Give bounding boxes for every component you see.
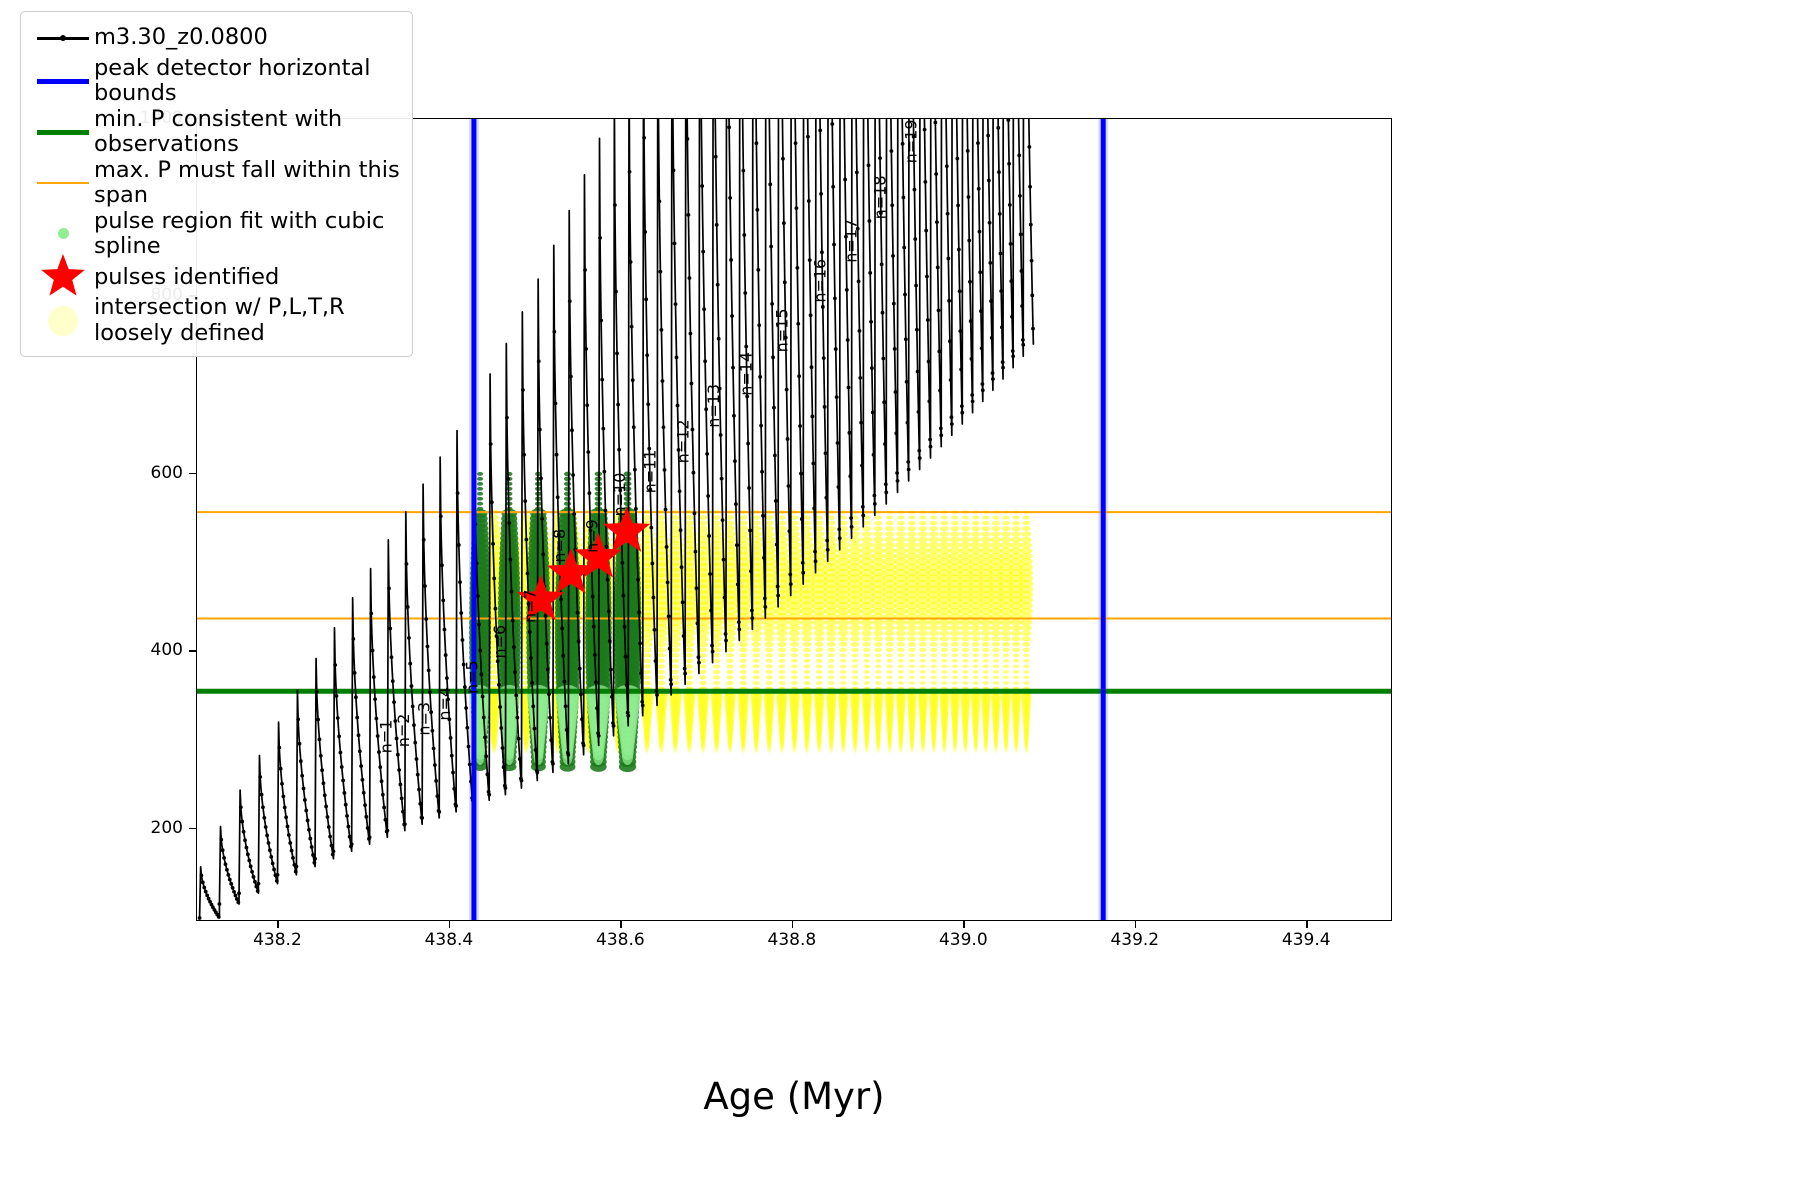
curve-marker — [642, 136, 646, 140]
intersection-blob — [983, 665, 989, 668]
intersection-blob — [1012, 648, 1020, 652]
intersection-blob — [1010, 619, 1022, 625]
curve-marker — [620, 561, 624, 565]
curve-marker — [661, 379, 665, 383]
intersection-blob — [962, 659, 968, 662]
curve-marker — [968, 280, 972, 284]
curve-marker — [957, 248, 961, 252]
curve-marker — [979, 309, 983, 313]
intersection-blob — [1002, 648, 1010, 652]
curve-marker — [385, 829, 389, 833]
curve-marker — [708, 572, 712, 576]
intersection-blob — [657, 647, 666, 652]
curve-marker — [205, 893, 209, 897]
curve-marker — [528, 630, 532, 634]
curve-marker — [773, 454, 777, 458]
curve-marker — [798, 424, 802, 428]
curve-marker — [948, 339, 952, 343]
intersection-blob — [1001, 636, 1010, 641]
intersection-blob — [950, 531, 960, 536]
intersection-blob-tail — [754, 739, 758, 753]
intersection-blob — [1013, 676, 1019, 679]
intersection-blob — [886, 521, 894, 525]
curve-marker — [882, 400, 886, 404]
pulse-label-n-10: n=10 — [610, 473, 629, 517]
curve-marker — [915, 328, 919, 332]
curve-marker — [956, 203, 960, 207]
intersection-blob — [791, 670, 798, 674]
curve-marker — [638, 641, 642, 645]
intersection-blob — [874, 642, 883, 647]
intersection-blob — [790, 642, 799, 647]
curve-marker — [231, 886, 235, 890]
curve-marker — [834, 347, 838, 351]
curve-marker — [572, 512, 576, 516]
intersection-blob — [1023, 659, 1029, 662]
intersection-blob — [671, 647, 680, 652]
intersection-blob — [971, 636, 980, 641]
curve-marker — [545, 642, 549, 646]
curve-marker — [937, 309, 941, 313]
curve-marker — [861, 505, 865, 509]
intersection-blob — [765, 653, 773, 657]
curve-marker — [468, 762, 472, 766]
curve-marker — [1000, 325, 1004, 329]
curve-marker — [950, 415, 954, 419]
intersection-blob — [490, 675, 499, 680]
intersection-blob — [930, 648, 938, 652]
legend[interactable]: m3.30_z0.0800peak detector horizontal bo… — [20, 11, 413, 357]
curve-marker — [242, 830, 246, 834]
curve-marker — [750, 608, 754, 612]
curve-marker — [565, 728, 569, 732]
intersection-blob — [993, 659, 999, 662]
intersection-blob — [930, 521, 938, 525]
intersection-blob — [814, 636, 824, 642]
curve-marker — [673, 242, 677, 246]
curve-marker — [681, 600, 685, 604]
pulse-label-n-5: n=5 — [462, 660, 481, 694]
curve-marker — [602, 470, 606, 474]
intersection-blob — [1012, 526, 1021, 531]
curve-marker — [298, 742, 302, 746]
curve-marker — [937, 349, 941, 353]
intersection-blob — [886, 665, 892, 668]
curve-marker — [485, 772, 489, 776]
curve-marker — [678, 489, 682, 493]
pulse-label-n-19: n=19 — [901, 119, 920, 163]
intersection-blob — [803, 653, 810, 657]
intersection-blob — [886, 681, 892, 684]
y-tick-label: 400 — [151, 640, 183, 660]
intersection-blob — [1022, 642, 1030, 647]
curve-marker — [795, 266, 799, 270]
curve-marker — [416, 773, 420, 777]
intersection-blob — [726, 675, 733, 679]
curve-marker — [848, 431, 852, 435]
intersection-blob — [982, 648, 990, 652]
intersection-blob — [950, 537, 961, 543]
intersection-blob — [918, 526, 927, 531]
intersection-blob — [973, 659, 979, 662]
legend-entry-1[interactable]: m3.30_z0.0800 — [32, 20, 401, 56]
intersection-blob — [931, 681, 937, 684]
intersection-blob — [950, 636, 959, 641]
pulse-region-spline-point — [506, 472, 512, 476]
curve-marker — [925, 275, 929, 279]
curve-marker — [769, 245, 773, 249]
intersection-blob — [906, 542, 917, 548]
intersection-blob — [1021, 625, 1032, 631]
curve-marker — [464, 706, 468, 710]
curve-marker — [530, 681, 534, 685]
intersection-blob — [861, 619, 873, 626]
intersection-blob — [788, 625, 800, 632]
intersection-blob-tail — [780, 739, 784, 753]
x-tick-label: 439.2 — [1110, 930, 1159, 950]
intersection-blob — [839, 515, 847, 519]
intersection-blob — [983, 676, 989, 679]
pulse-label-n-7: n=7 — [521, 589, 540, 623]
curve-marker — [1031, 327, 1035, 331]
legend-entry-5[interactable]: pulse region fit with cubic spline — [32, 209, 401, 260]
curve-marker — [763, 597, 767, 601]
intersection-blob — [726, 515, 734, 520]
legend-entry-2[interactable]: peak detector horizontal bounds — [32, 56, 401, 107]
curve-marker — [842, 119, 846, 120]
curve-marker — [639, 671, 643, 675]
curve-marker — [835, 395, 839, 399]
intersection-blob — [850, 630, 861, 636]
intersection-blob — [791, 676, 798, 680]
intersection-blob — [930, 516, 937, 520]
curve-marker — [335, 694, 339, 698]
x-tick-mark — [792, 921, 793, 928]
intersection-blob — [1013, 654, 1020, 658]
curve-marker — [1021, 343, 1025, 347]
intersection-blob — [909, 665, 915, 668]
star-sample — [37, 254, 89, 300]
curve-marker — [219, 838, 223, 842]
curve-marker — [702, 307, 706, 311]
curve-marker — [819, 192, 823, 196]
intersection-blob — [970, 542, 981, 548]
curve-marker — [672, 168, 676, 172]
curve-marker — [939, 426, 943, 430]
curve-marker — [730, 314, 734, 318]
intersection-blob — [766, 659, 773, 663]
curve-marker — [554, 402, 558, 406]
intersection-blob — [671, 670, 679, 674]
curve-marker — [407, 636, 411, 640]
intersection-blob — [973, 670, 979, 673]
intersection-blob — [991, 636, 1000, 641]
intersection-blob — [874, 521, 882, 526]
intersection-blob — [949, 542, 960, 548]
legend-entry-label: min. P consistent with observations — [94, 107, 401, 158]
curve-marker — [496, 659, 500, 663]
curve-marker — [732, 414, 736, 418]
intersection-blob — [874, 526, 883, 531]
intersection-blob-tail — [741, 739, 745, 753]
x-tick-mark — [963, 921, 964, 928]
intersection-blob — [992, 648, 1000, 652]
curve-marker — [896, 479, 900, 483]
curve-marker — [892, 302, 896, 306]
curve-marker — [277, 746, 281, 750]
intersection-blob — [753, 664, 760, 668]
curve-marker — [623, 625, 627, 629]
intersection-blob-tail — [994, 739, 998, 753]
intersection-blob — [778, 659, 785, 663]
legend-entry-6[interactable]: pulses identified — [32, 259, 401, 295]
pulse-region-spline-tail — [476, 747, 485, 765]
intersection-blob — [816, 676, 823, 680]
intersection-blob — [929, 531, 939, 536]
curve-marker — [744, 345, 748, 349]
legend-entry-label: pulse region fit with cubic spline — [94, 209, 401, 260]
curve-marker — [631, 378, 635, 382]
curve-marker — [812, 507, 816, 511]
curve-marker — [456, 491, 460, 495]
intersection-blob — [982, 642, 990, 647]
intersection-blob — [657, 653, 665, 658]
intersection-blob-tail — [1004, 739, 1008, 753]
curve-marker — [722, 558, 726, 562]
legend-entry-7[interactable]: intersection w/ P,L,T,Rloosely defined — [32, 295, 401, 346]
intersection-blob — [908, 516, 915, 520]
intersection-blob — [1002, 526, 1011, 531]
intersection-blob — [952, 670, 958, 673]
curve-marker — [967, 239, 971, 243]
curve-marker — [501, 746, 505, 750]
curve-marker — [734, 502, 738, 506]
curve-marker — [737, 627, 741, 631]
curve-marker — [794, 141, 798, 145]
curve-marker — [976, 141, 980, 145]
intersection-blob-tail — [492, 739, 497, 753]
intersection-blob — [897, 648, 905, 652]
curve-marker — [989, 299, 993, 303]
intersection-blob — [928, 537, 939, 543]
curve-marker — [443, 628, 447, 632]
intersection-blob — [962, 516, 969, 520]
curve-marker — [373, 697, 377, 701]
intersection-blob — [970, 625, 981, 631]
curve-marker — [980, 346, 984, 350]
intersection-blob — [906, 625, 917, 631]
intersection-blob — [671, 664, 679, 668]
intersection-blob — [886, 654, 893, 658]
curve-marker — [245, 846, 249, 850]
intersection-blob — [643, 664, 651, 668]
curve-marker — [696, 621, 700, 625]
intersection-blob — [928, 542, 939, 548]
line-sample — [37, 79, 89, 84]
curve-marker — [836, 485, 840, 489]
curve-marker — [939, 433, 943, 437]
pulse-region-spline-tail — [622, 747, 633, 765]
intersection-blob — [864, 659, 870, 663]
curve-marker — [663, 468, 667, 472]
curve-marker — [674, 302, 678, 306]
curve-marker — [749, 569, 753, 573]
curve-marker — [202, 886, 206, 890]
curve-marker — [256, 889, 260, 893]
intersection-blob — [814, 630, 825, 636]
intersection-blob-tail — [687, 739, 691, 753]
intersection-blob — [981, 631, 991, 637]
curve-marker — [861, 513, 865, 517]
curve-marker — [830, 122, 834, 126]
curve-marker — [1006, 119, 1010, 122]
curve-marker — [521, 388, 525, 392]
curve-marker — [978, 270, 982, 274]
intersection-blob-tail — [659, 739, 663, 753]
curve-marker — [315, 690, 319, 694]
curve-marker — [634, 507, 638, 511]
intersection-blob — [962, 676, 968, 679]
intersection-blob — [851, 642, 860, 647]
curve-marker — [340, 765, 344, 769]
intersection-blob — [991, 531, 1001, 536]
curve-marker — [564, 704, 568, 708]
curve-marker — [439, 514, 443, 518]
curve-marker — [758, 375, 762, 379]
legend-entry-label: pulses identified — [94, 265, 279, 290]
curve-marker — [697, 661, 701, 665]
intersection-blob — [852, 653, 859, 657]
intersection-blob — [885, 636, 894, 641]
intersection-blob-tail — [984, 739, 988, 753]
intersection-blob — [939, 631, 949, 637]
curve-marker — [701, 250, 705, 254]
curve-marker — [653, 628, 657, 632]
legend-entry-3[interactable]: min. P consistent with observations — [32, 107, 401, 158]
curve-marker — [907, 468, 911, 472]
intersection-blob — [906, 619, 918, 625]
intersection-blob — [657, 515, 666, 520]
curve-marker — [971, 400, 975, 404]
x-axis-label: Age (Myr) — [196, 1075, 1392, 1118]
intersection-blob — [918, 636, 927, 641]
curve-marker — [797, 374, 801, 378]
curve-marker — [858, 376, 862, 380]
intersection-blob — [671, 515, 680, 520]
curve-marker — [801, 571, 805, 575]
legend-entry-4[interactable]: max. P must fall within this span — [32, 158, 401, 209]
intersection-blob — [816, 681, 823, 685]
intersection-blob — [875, 676, 881, 680]
curve-marker — [616, 403, 620, 407]
curve-marker — [613, 203, 617, 207]
intersection-blob — [815, 648, 823, 652]
curve-marker — [1030, 293, 1034, 297]
intersection-blob — [827, 642, 836, 647]
intersection-blob — [941, 670, 947, 673]
intersection-blob — [803, 676, 810, 680]
intersection-blob-tail — [805, 739, 809, 753]
curve-marker — [970, 357, 974, 361]
intersection-blob — [993, 654, 1000, 658]
intersection-blob — [950, 631, 960, 637]
curve-marker — [235, 897, 239, 901]
curve-marker — [889, 149, 893, 153]
intersection-blob-tail — [1025, 739, 1029, 753]
intersection-blob — [920, 665, 926, 668]
intersection-blob — [931, 670, 937, 673]
curve-marker — [390, 655, 394, 659]
pulse-region-spline-point — [477, 482, 483, 486]
legend-label-line: peak detector horizontal bounds — [94, 56, 401, 107]
curve-marker — [346, 825, 350, 829]
intersection-blob — [726, 664, 733, 668]
intersection-blob — [816, 653, 823, 657]
curve-marker — [441, 599, 445, 603]
intersection-blob — [740, 659, 747, 663]
curve-marker — [595, 706, 599, 710]
intersection-blob — [920, 654, 927, 658]
intersection-blob — [789, 636, 799, 642]
intersection-blob — [898, 654, 905, 658]
intersection-blob — [917, 625, 928, 631]
intersection-blob — [993, 676, 999, 679]
curve-marker — [926, 318, 930, 322]
curve-marker — [938, 389, 942, 393]
curve-marker — [682, 634, 686, 638]
curve-marker — [801, 561, 805, 565]
curve-marker — [524, 538, 528, 542]
curve-marker — [820, 250, 824, 254]
curve-marker — [226, 873, 230, 877]
curve-marker — [371, 649, 375, 653]
curve-marker — [881, 311, 885, 315]
curve-marker — [382, 806, 386, 810]
curve-marker — [724, 639, 728, 643]
curve-marker — [683, 672, 687, 676]
intersection-blob-tail — [964, 739, 968, 753]
intersection-blob — [801, 625, 813, 632]
curve-marker — [424, 617, 428, 621]
curve-marker — [218, 902, 222, 906]
intersection-blob — [962, 648, 970, 652]
curve-marker — [534, 748, 538, 752]
curve-marker — [440, 563, 444, 567]
x-tick-label: 438.8 — [768, 930, 817, 950]
intersection-blob — [864, 681, 870, 685]
curve-marker — [735, 543, 739, 547]
curve-marker — [243, 838, 247, 842]
curve-marker — [348, 835, 352, 839]
curve-marker — [268, 848, 272, 852]
curve-marker — [846, 338, 850, 342]
intersection-blob — [973, 676, 979, 679]
intersection-blob — [864, 676, 870, 680]
intersection-blob — [752, 647, 761, 652]
curve-marker — [566, 753, 570, 757]
curve-marker — [825, 539, 829, 543]
curve-marker — [990, 336, 994, 340]
intersection-blob — [939, 542, 950, 548]
curve-marker — [368, 835, 372, 839]
intersection-blob-tail — [767, 739, 771, 753]
intersection-blob — [778, 675, 785, 679]
curve-marker — [850, 525, 854, 529]
intersection-blob — [778, 664, 785, 668]
curve-marker — [761, 514, 765, 518]
curve-marker — [561, 654, 565, 658]
curve-marker — [706, 494, 710, 498]
